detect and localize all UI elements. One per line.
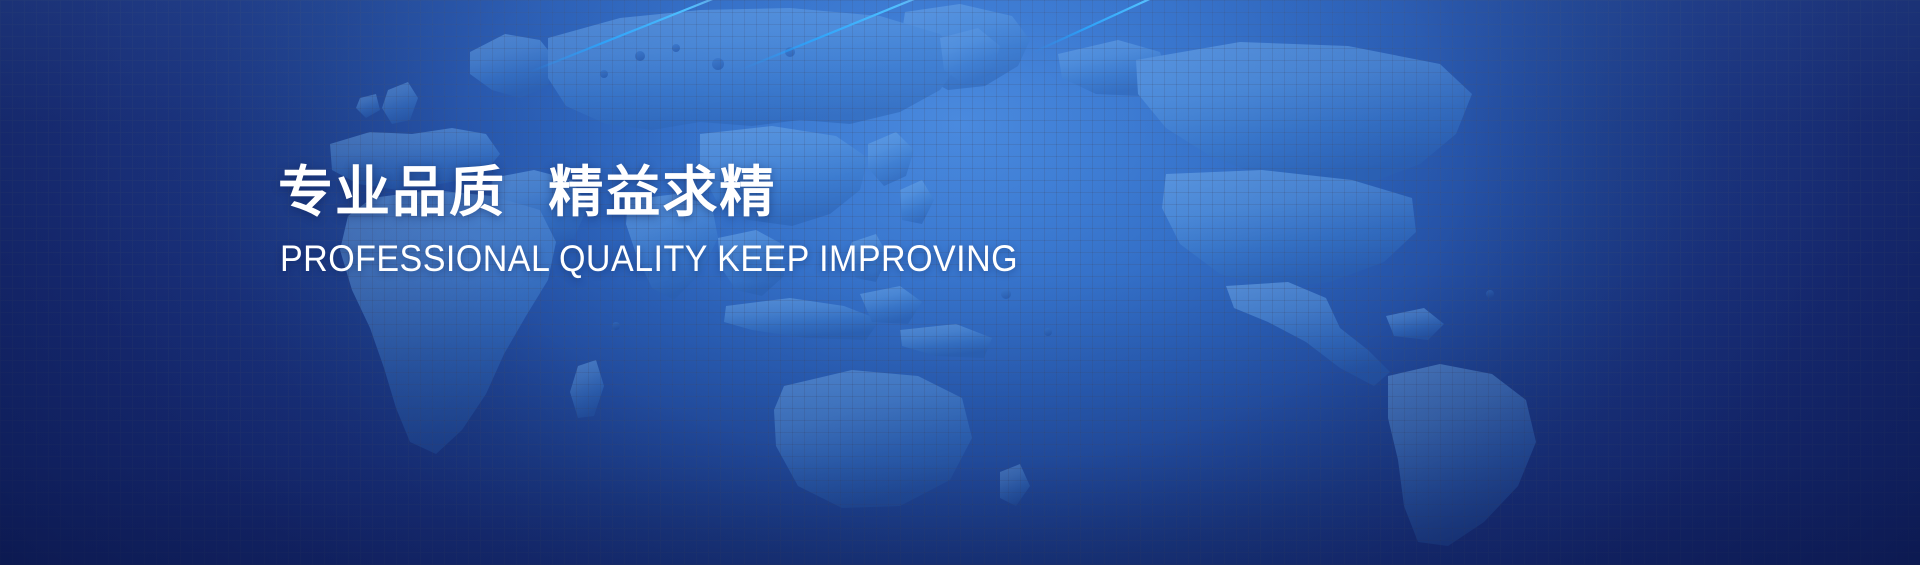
top-sheen-overlay: [0, 0, 1920, 565]
headline-chinese: 专业品质 精益求精: [278, 160, 1178, 225]
banner-copy: 专业品质 精益求精 PROFESSIONAL QUALITY KEEP IMPR…: [278, 160, 1178, 280]
headline-english: PROFESSIONAL QUALITY KEEP IMPROVING: [280, 239, 1106, 280]
promo-banner: 专业品质 精益求精 PROFESSIONAL QUALITY KEEP IMPR…: [0, 0, 1920, 565]
